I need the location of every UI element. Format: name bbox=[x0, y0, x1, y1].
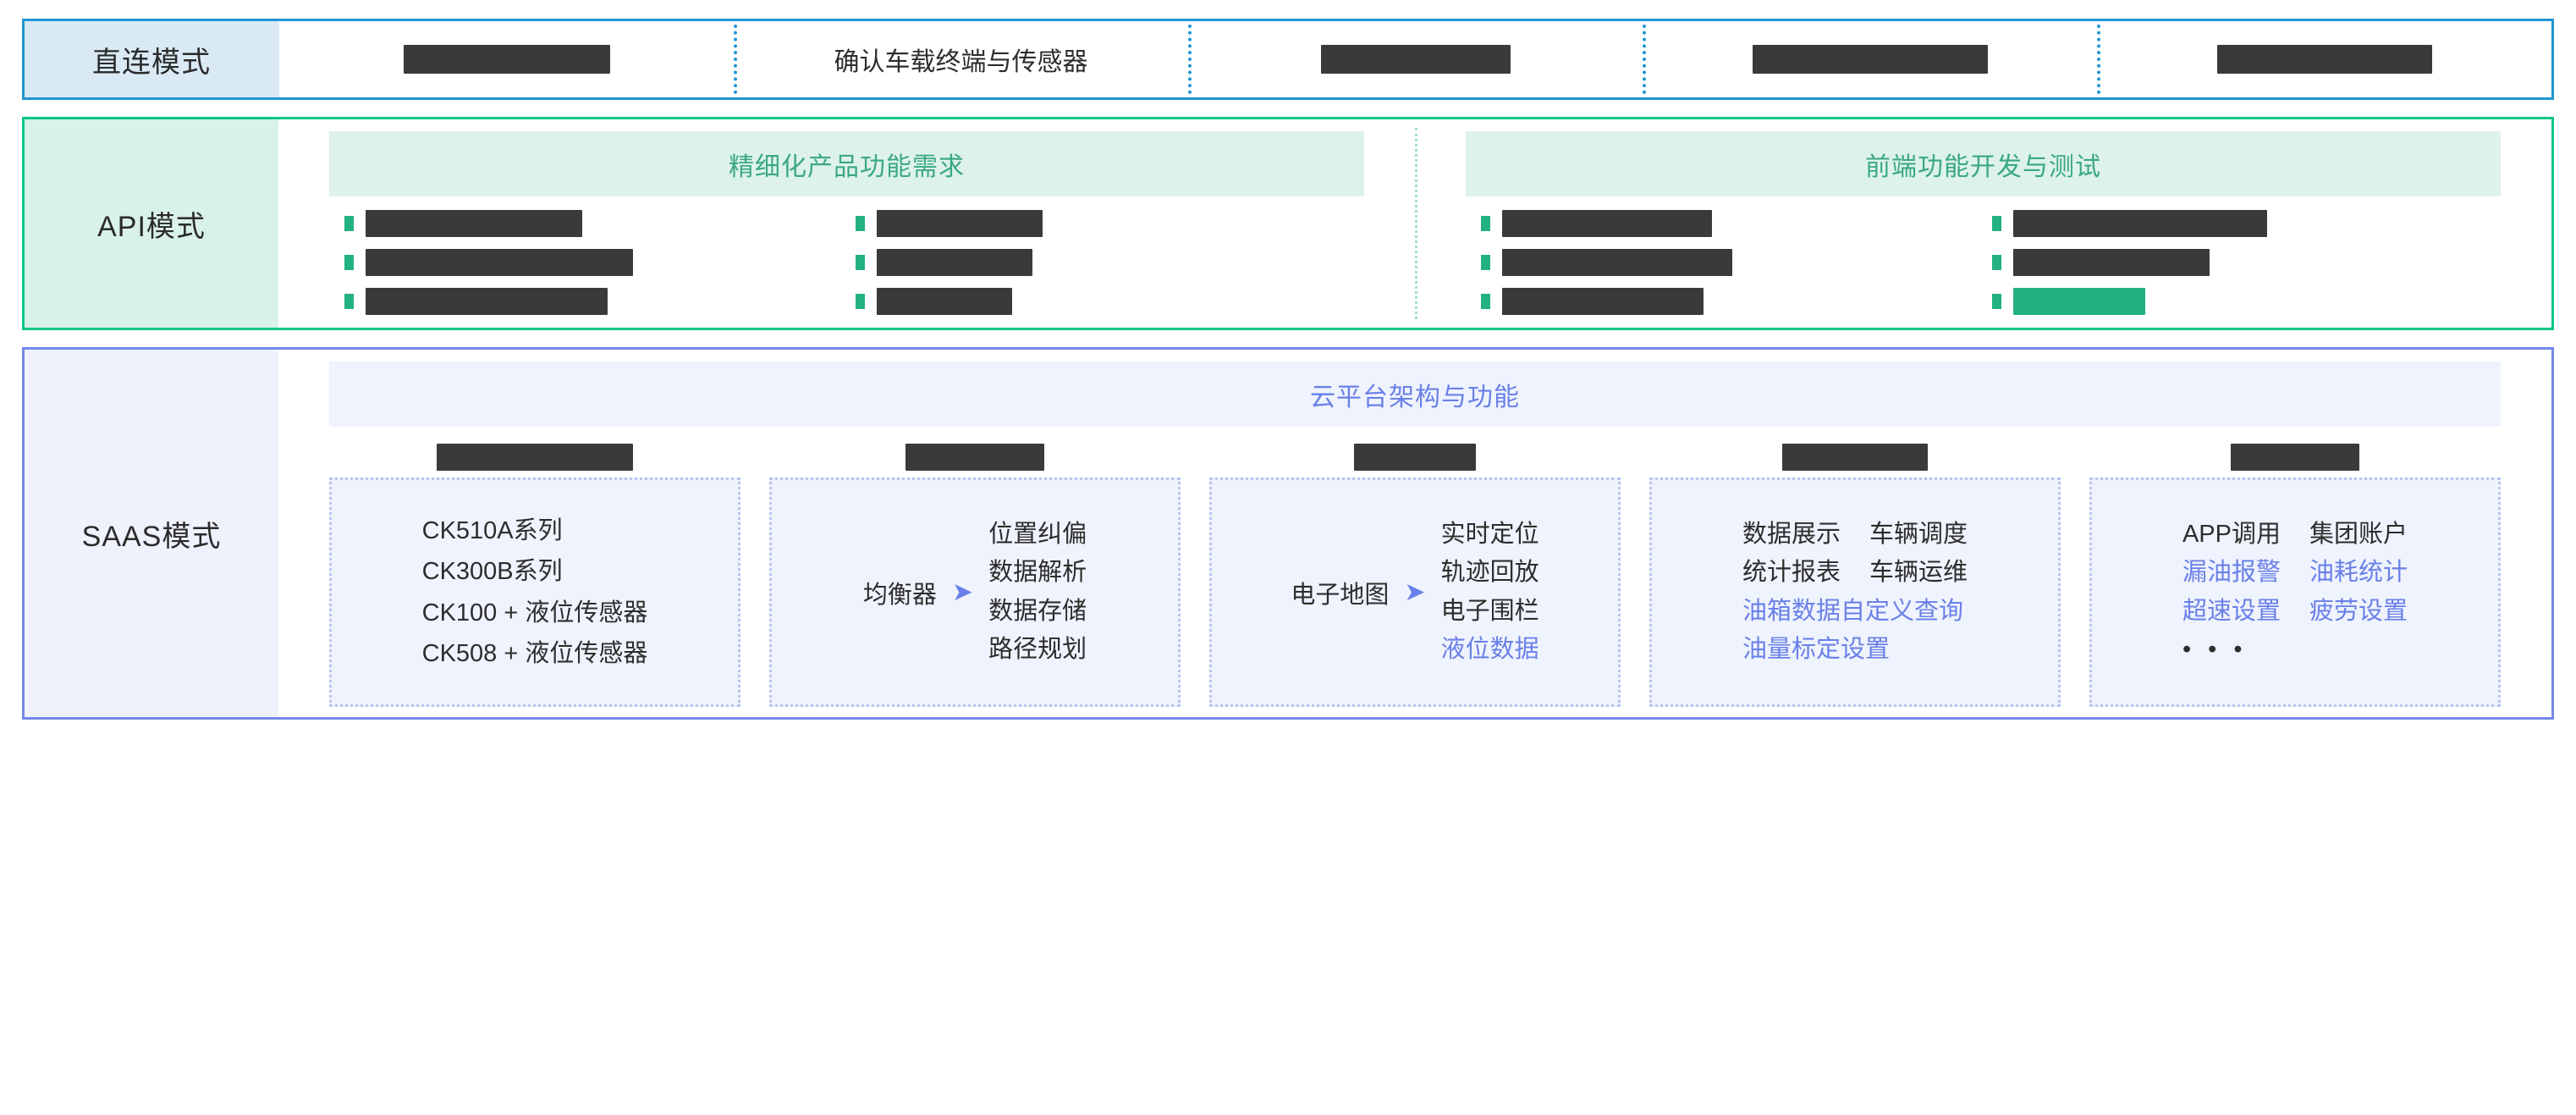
bullet-square-icon bbox=[1992, 255, 2001, 270]
saas-card: 电子地图➤实时定位轨迹回放电子围栏液位数据 bbox=[1209, 437, 1621, 707]
direct-mode-body: 确认车载终端与传感器 bbox=[279, 21, 2551, 97]
api-mode-band: API模式 精细化产品功能需求前端功能开发与测试 bbox=[22, 117, 2554, 330]
api-bullet-list bbox=[329, 196, 1364, 319]
bullet-square-icon bbox=[344, 216, 354, 231]
api-bullet-item bbox=[344, 284, 839, 318]
api-mode-column: 精细化产品功能需求 bbox=[278, 119, 1415, 328]
bullet-square-icon bbox=[856, 255, 865, 270]
saas-card-body: CK510A系列CK300B系列CK100 + 液位传感器CK508 + 液位传… bbox=[329, 477, 740, 707]
direct-mode-cells: 确认车载终端与传感器 bbox=[279, 21, 2551, 97]
diagram-page: 直连模式 确认车载终端与传感器 API模式 精细化产品功能需求前端功能开发与测试… bbox=[0, 0, 2576, 1115]
redacted-text bbox=[1753, 45, 1988, 74]
saas-card-line: APP调用 bbox=[2182, 517, 2281, 552]
api-mode-label: API模式 bbox=[25, 119, 278, 328]
saas-card-body: 数据展示车辆调度统计报表车辆运维油箱数据自定义查询油量标定设置 bbox=[1649, 477, 2061, 707]
redacted-text bbox=[877, 288, 1012, 315]
api-bullet-item bbox=[344, 246, 839, 279]
redacted-text bbox=[905, 444, 1044, 471]
saas-card-line: 位置纠偏 bbox=[988, 517, 1087, 552]
bullet-square-icon bbox=[344, 255, 354, 270]
redacted-text bbox=[877, 249, 1032, 276]
redacted-text bbox=[1502, 288, 1704, 315]
direct-mode-band: 直连模式 确认车载终端与传感器 bbox=[22, 19, 2554, 100]
saas-card-line: 电子围栏 bbox=[1441, 594, 1539, 629]
saas-card: 数据展示车辆调度统计报表车辆运维油箱数据自定义查询油量标定设置 bbox=[1649, 437, 2061, 707]
saas-card-title bbox=[1209, 437, 1621, 477]
saas-card-line: 实时定位 bbox=[1441, 517, 1539, 552]
saas-card-line: 轨迹回放 bbox=[1441, 555, 1539, 590]
api-mode-body: 精细化产品功能需求前端功能开发与测试 bbox=[278, 119, 2551, 328]
redacted-text bbox=[1321, 45, 1511, 74]
saas-card-line: 液位数据 bbox=[1441, 632, 1539, 667]
redacted-text bbox=[437, 444, 633, 471]
redacted-text bbox=[2013, 249, 2210, 276]
api-bullet-item bbox=[1481, 207, 1975, 240]
saas-card-line: 数据展示 bbox=[1742, 517, 1841, 552]
saas-card-line: 油量标定设置 bbox=[1742, 632, 1968, 667]
saas-mode-band: SAAS模式 云平台架构与功能 CK510A系列CK300B系列CK100 + … bbox=[22, 347, 2554, 720]
saas-section-heading: 云平台架构与功能 bbox=[329, 362, 2501, 427]
redacted-text bbox=[2217, 45, 2432, 74]
api-bullet-item bbox=[1992, 207, 2486, 240]
redacted-text bbox=[1782, 444, 1928, 471]
redacted-text bbox=[2013, 210, 2267, 237]
redacted-text bbox=[366, 249, 633, 276]
saas-card-source-label: 均衡器 bbox=[863, 575, 937, 610]
bullet-square-icon bbox=[1992, 216, 2001, 231]
bullet-square-icon bbox=[856, 216, 865, 231]
api-bullet-item bbox=[856, 246, 1350, 279]
direct-mode-step bbox=[1643, 21, 2097, 97]
saas-card-row: CK510A系列CK300B系列CK100 + 液位传感器CK508 + 液位传… bbox=[329, 437, 2501, 707]
saas-card-line: 路径规划 bbox=[988, 632, 1087, 667]
saas-card-title bbox=[2089, 437, 2501, 477]
saas-mode-body: 云平台架构与功能 CK510A系列CK300B系列CK100 + 液位传感器CK… bbox=[278, 350, 2551, 717]
api-bullet-item bbox=[1992, 246, 2486, 279]
redacted-text bbox=[366, 210, 582, 237]
api-bullet-item bbox=[1481, 284, 1975, 318]
direct-mode-step bbox=[1188, 21, 1643, 97]
direct-mode-label: 直连模式 bbox=[25, 21, 279, 97]
direct-mode-step: 确认车载终端与传感器 bbox=[734, 21, 1188, 97]
direct-mode-step bbox=[2097, 21, 2551, 97]
saas-card: APP调用集团账户漏油报警油耗统计超速设置疲劳设置• • • bbox=[2089, 437, 2501, 707]
direct-mode-step-label: 确认车载终端与传感器 bbox=[834, 41, 1088, 78]
saas-card-line: CK510A系列 bbox=[422, 513, 648, 549]
saas-card-line: 车辆运维 bbox=[1869, 555, 1968, 590]
saas-card: 均衡器➤位置纠偏数据解析数据存储路径规划 bbox=[769, 437, 1181, 707]
api-column-heading: 前端功能开发与测试 bbox=[1466, 131, 2501, 196]
saas-card-title bbox=[769, 437, 1181, 477]
api-bullet-item bbox=[856, 284, 1350, 318]
api-mode-column: 前端功能开发与测试 bbox=[1415, 119, 2551, 328]
arrow-right-icon: ➤ bbox=[1404, 580, 1425, 605]
saas-card-source-label: 电子地图 bbox=[1291, 575, 1389, 610]
arrow-right-icon: ➤ bbox=[952, 580, 973, 605]
saas-mode-label: SAAS模式 bbox=[25, 350, 278, 717]
bullet-square-icon bbox=[1992, 294, 2001, 309]
redacted-text bbox=[1354, 444, 1476, 471]
redacted-text bbox=[2231, 444, 2359, 471]
saas-card-line: 疲劳设置 bbox=[2309, 594, 2408, 629]
saas-card-line: 数据解析 bbox=[988, 555, 1087, 590]
saas-card-body: 均衡器➤位置纠偏数据解析数据存储路径规划 bbox=[769, 477, 1181, 707]
bullet-square-icon bbox=[1481, 294, 1490, 309]
saas-card-line: 车辆调度 bbox=[1869, 517, 1968, 552]
redacted-text bbox=[404, 45, 610, 74]
ellipsis-marker: • • • bbox=[2182, 632, 2408, 667]
saas-card-line: 油耗统计 bbox=[2309, 555, 2408, 590]
saas-card-body: APP调用集团账户漏油报警油耗统计超速设置疲劳设置• • • bbox=[2089, 477, 2501, 707]
redacted-text bbox=[1502, 249, 1732, 276]
saas-card-title bbox=[329, 437, 740, 477]
saas-card-line: 漏油报警 bbox=[2182, 555, 2281, 590]
saas-card-line: 集团账户 bbox=[2309, 517, 2408, 552]
bullet-square-icon bbox=[344, 294, 354, 309]
api-column-heading: 精细化产品功能需求 bbox=[329, 131, 1364, 196]
redacted-text bbox=[877, 210, 1043, 237]
saas-card: CK510A系列CK300B系列CK100 + 液位传感器CK508 + 液位传… bbox=[329, 437, 740, 707]
saas-card-line: CK100 + 液位传感器 bbox=[422, 595, 648, 631]
saas-card-body: 电子地图➤实时定位轨迹回放电子围栏液位数据 bbox=[1209, 477, 1621, 707]
saas-card-line: CK508 + 液位传感器 bbox=[422, 636, 648, 671]
bullet-square-icon bbox=[856, 294, 865, 309]
saas-card-line: 油箱数据自定义查询 bbox=[1742, 594, 1968, 629]
api-bullet-item bbox=[1481, 246, 1975, 279]
saas-card-line: 数据存储 bbox=[988, 594, 1087, 629]
saas-card-line: 统计报表 bbox=[1742, 555, 1841, 590]
redacted-text bbox=[1502, 210, 1712, 237]
saas-card-line: 超速设置 bbox=[2182, 594, 2281, 629]
saas-card-line: CK300B系列 bbox=[422, 554, 648, 589]
api-bullet-item bbox=[1992, 284, 2486, 318]
saas-card-title bbox=[1649, 437, 2061, 477]
bullet-square-icon bbox=[1481, 216, 1490, 231]
api-bullet-item bbox=[344, 207, 839, 240]
bullet-square-icon bbox=[1481, 255, 1490, 270]
api-bullet-list bbox=[1466, 196, 2501, 319]
redacted-text bbox=[2013, 288, 2145, 315]
api-bullet-item bbox=[856, 207, 1350, 240]
direct-mode-step bbox=[279, 21, 734, 97]
redacted-text bbox=[366, 288, 608, 315]
